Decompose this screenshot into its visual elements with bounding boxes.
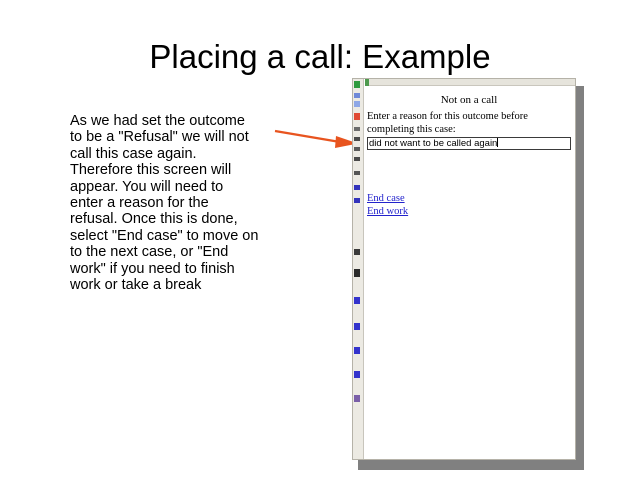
underlying-window-sliver bbox=[353, 79, 364, 460]
reason-input-value: did not want to be called again bbox=[369, 138, 497, 149]
end-case-link[interactable]: End case bbox=[367, 193, 405, 204]
embedded-screenshot: Not on a call Enter a reason for this ou… bbox=[352, 78, 578, 462]
panel-heading: Not on a call bbox=[365, 94, 573, 106]
end-work-link[interactable]: End work bbox=[367, 206, 408, 217]
page-title: Placing a call: Example bbox=[0, 38, 640, 76]
window-content: Not on a call Enter a reason for this ou… bbox=[365, 87, 575, 459]
text-cursor bbox=[497, 138, 498, 147]
slide-body-text: As we had set the outcome to be a "Refus… bbox=[70, 113, 260, 293]
presentation-slide: Placing a call: Example As we had set th… bbox=[0, 0, 640, 480]
application-window: Not on a call Enter a reason for this ou… bbox=[352, 78, 576, 460]
window-toolbar bbox=[365, 79, 575, 86]
reason-input[interactable]: did not want to be called again bbox=[367, 137, 571, 150]
instruction-text: Enter a reason for this outcome before c… bbox=[367, 111, 573, 136]
toolbar-accent-marker bbox=[365, 79, 369, 86]
